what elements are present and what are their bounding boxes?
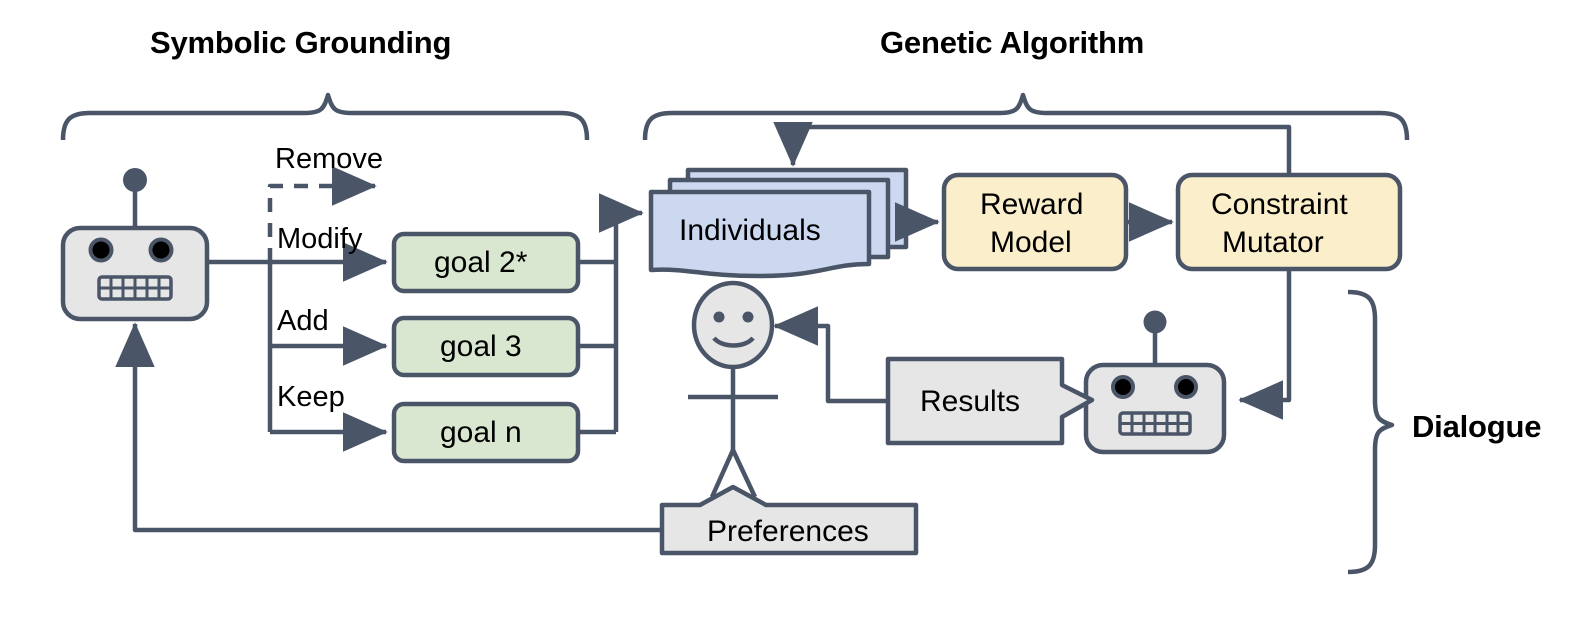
- brace-symbolic-grounding: [63, 95, 587, 140]
- edge-label-remove: Remove: [275, 143, 383, 176]
- robot-left-antenna-ball: [123, 168, 147, 192]
- edge-mutator-to-robot-right: [1240, 269, 1289, 400]
- robot-left-icon: [63, 189, 207, 319]
- individuals-label: Individuals: [679, 214, 821, 248]
- robot-right-icon: [1086, 330, 1224, 452]
- edge-label-keep: Keep: [277, 381, 345, 414]
- goal-label-2: goal 3: [440, 330, 522, 364]
- reward-model-label-line2: Model: [990, 226, 1072, 260]
- reward-model-label-line1: Reward: [980, 188, 1083, 222]
- results-label: Results: [920, 385, 1020, 419]
- title-symbolic-grounding: Symbolic Grounding: [150, 25, 451, 61]
- constraint-mutator-label-line1: Constraint: [1211, 188, 1348, 222]
- goal-label-1: goal 2*: [434, 246, 527, 280]
- brace-genetic-algorithm: [645, 95, 1407, 140]
- person-icon: [688, 283, 778, 497]
- preferences-label: Preferences: [707, 515, 869, 549]
- edge-label-modify: Modify: [277, 223, 362, 256]
- goal-label-3: goal n: [440, 416, 522, 450]
- brace-dialogue: [1348, 292, 1392, 572]
- title-genetic-algorithm: Genetic Algorithm: [880, 25, 1144, 61]
- diagram-canvas: Symbolic Grounding Genetic Algorithm Dia…: [0, 0, 1574, 618]
- edge-goals-to-individuals: [578, 213, 642, 432]
- constraint-mutator-label-line2: Mutator: [1222, 226, 1324, 260]
- edge-label-add: Add: [277, 305, 329, 338]
- edge-results-to-person: [775, 326, 888, 401]
- robot-right-antenna-ball: [1144, 311, 1167, 334]
- title-dialogue: Dialogue: [1412, 409, 1541, 445]
